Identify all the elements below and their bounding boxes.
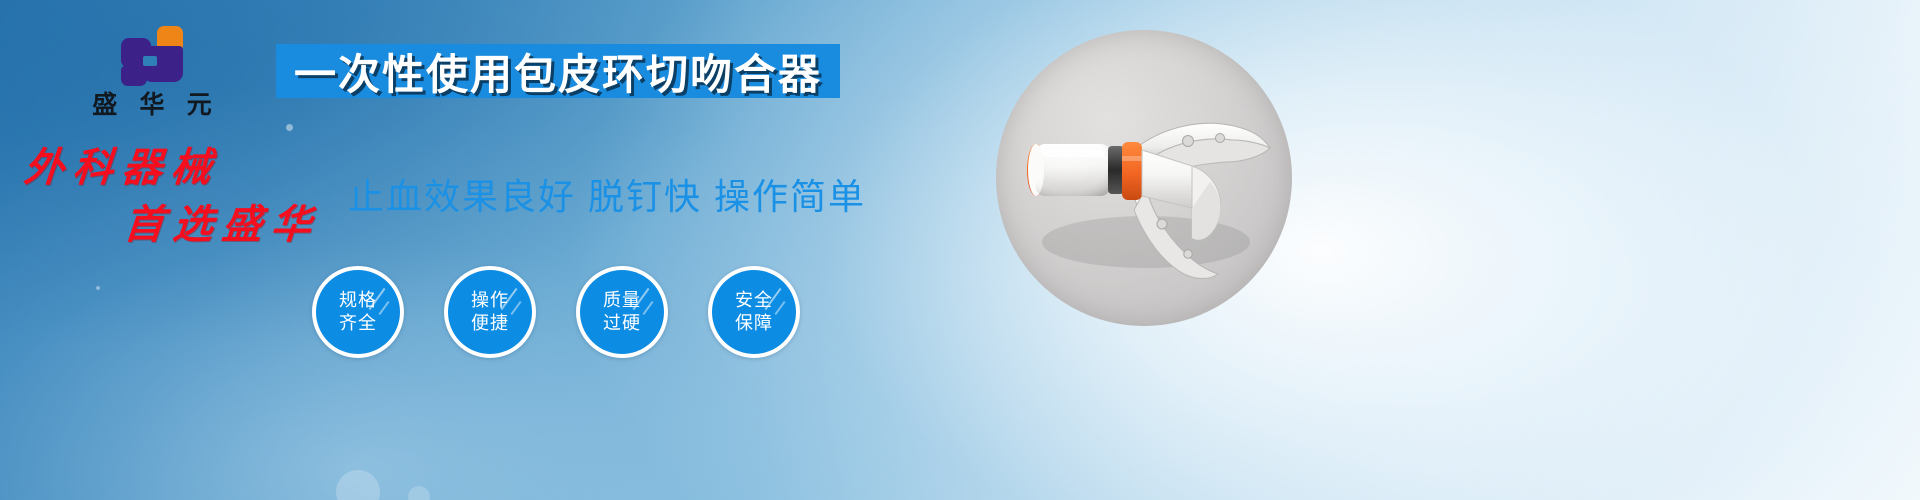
feature-badge-line1: 规格 [339, 289, 377, 312]
subtitle-text: 止血效果良好 脱钉快 操作简单 [348, 168, 866, 220]
decor-bubble [286, 124, 293, 131]
feature-badge-list: 规格 齐全 操作 便捷 质量 过硬 安全 保障 [312, 266, 800, 358]
feature-badge-line2: 保障 [735, 312, 773, 335]
logo-shape-notch [143, 56, 157, 66]
feature-badge-line2: 齐全 [339, 312, 377, 335]
feature-badge[interactable]: 规格 齐全 [312, 266, 404, 358]
feature-badge[interactable]: 操作 便捷 [444, 266, 536, 358]
feature-badge[interactable]: 质量 过硬 [576, 266, 668, 358]
decor-bubble [336, 470, 380, 500]
product-photo [996, 30, 1292, 326]
slogan-line-2: 首选盛华 [122, 205, 355, 245]
promo-banner: 盛 华 元 一次性使用包皮环切吻合器 外科器械 首选盛华 止血效果良好 脱钉快 … [0, 0, 1920, 500]
headline-bar: 一次性使用包皮环切吻合器 [276, 44, 840, 98]
feature-badge-line1: 质量 [603, 289, 641, 312]
brand-slogan: 外科器械 首选盛华 [14, 148, 354, 245]
feature-badge-line1: 操作 [471, 289, 509, 312]
logo-shape-lower-left [121, 66, 147, 86]
feature-badge-line2: 便捷 [471, 312, 509, 335]
brand-logo-block[interactable]: 盛 华 元 [62, 26, 242, 120]
slogan-line-1: 外科器械 [22, 148, 355, 188]
headline-title: 一次性使用包皮环切吻合器 [294, 41, 822, 102]
brand-name: 盛 华 元 [62, 92, 242, 120]
decor-bubble [408, 486, 430, 500]
feature-badge-line1: 安全 [735, 289, 773, 312]
shenghuayuan-logo-icon [121, 26, 183, 86]
decor-bubble [96, 286, 100, 290]
circumcision-stapler-icon [996, 30, 1292, 326]
feature-badge[interactable]: 安全 保障 [708, 266, 800, 358]
feature-badge-line2: 过硬 [603, 312, 641, 335]
